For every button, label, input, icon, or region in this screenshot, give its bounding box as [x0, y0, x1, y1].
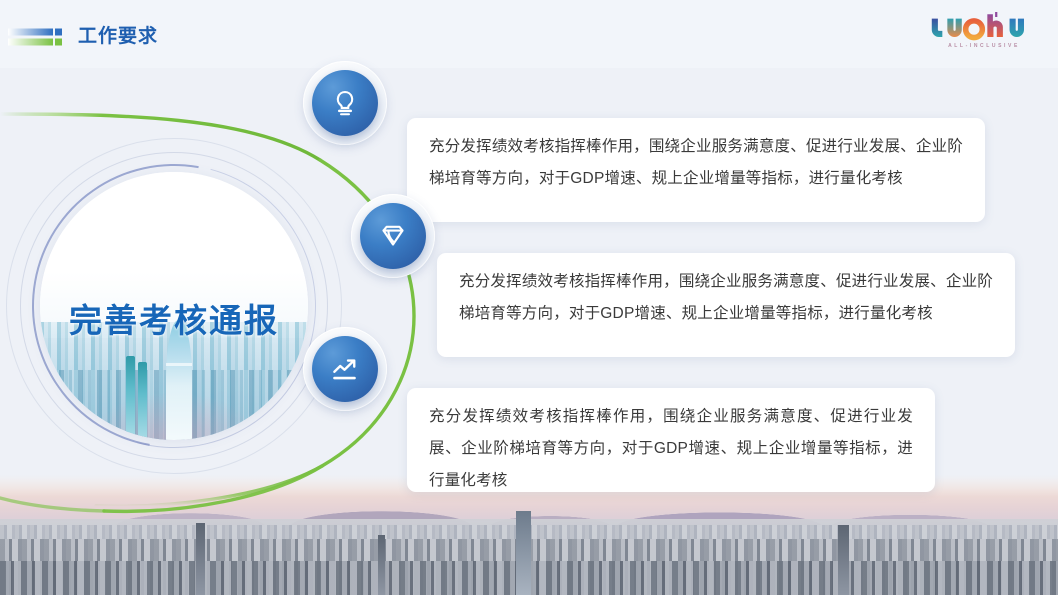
gradient-bars-marker-icon: [8, 26, 66, 48]
slide-header: 工作要求: [0, 0, 1058, 68]
cityscape-tower-center: [378, 535, 385, 595]
card-3-text: 充分发挥绩效考核指挥棒作用，围绕企业服务满意度、促进行业发展、企业阶梯培育等方向…: [429, 401, 913, 497]
node-trending-up[interactable]: [312, 336, 378, 402]
logo-tagline: ALL-INCLUSIVE: [928, 43, 1040, 49]
cityscape-tower-left: [196, 523, 205, 595]
slide-canvas: 完善考核通报: [0, 0, 1058, 595]
node-lightbulb[interactable]: [312, 70, 378, 136]
content-card-1[interactable]: 充分发挥绩效考核指挥棒作用，围绕企业服务满意度、促进行业发展、企业阶梯培育等方向…: [407, 118, 985, 222]
content-card-2[interactable]: 充分发挥绩效考核指挥棒作用，围绕企业服务满意度、促进行业发展、企业阶梯培育等方向…: [437, 253, 1015, 357]
circle-title: 完善考核通报: [40, 294, 308, 342]
circle-photo: 完善考核通报: [40, 172, 308, 440]
circle-photo-twin-tower-a: [126, 356, 135, 440]
left-circle-group: 完善考核通报: [14, 146, 334, 466]
lightbulb-icon[interactable]: [312, 70, 378, 136]
card-1-text: 充分发挥绩效考核指挥棒作用，围绕企业服务满意度、促进行业发展、企业阶梯培育等方向…: [429, 131, 963, 195]
cityscape-tower-tall: [516, 511, 531, 595]
content-card-3[interactable]: 充分发挥绩效考核指挥棒作用，围绕企业服务满意度、促进行业发展、企业阶梯培育等方向…: [407, 388, 935, 492]
circle-photo-twin-tower-b: [138, 362, 147, 440]
card-2-text: 充分发挥绩效考核指挥棒作用，围绕企业服务满意度、促进行业发展、企业阶梯培育等方向…: [459, 266, 993, 330]
diamond-icon[interactable]: [360, 203, 426, 269]
node-diamond[interactable]: [360, 203, 426, 269]
luohu-wordmark-icon: [928, 12, 1040, 42]
cityscape-tower-right: [838, 525, 849, 595]
trending-up-icon[interactable]: [312, 336, 378, 402]
page-title: 工作要求: [78, 25, 158, 49]
luohu-logo: ALL-INCLUSIVE: [928, 12, 1040, 54]
